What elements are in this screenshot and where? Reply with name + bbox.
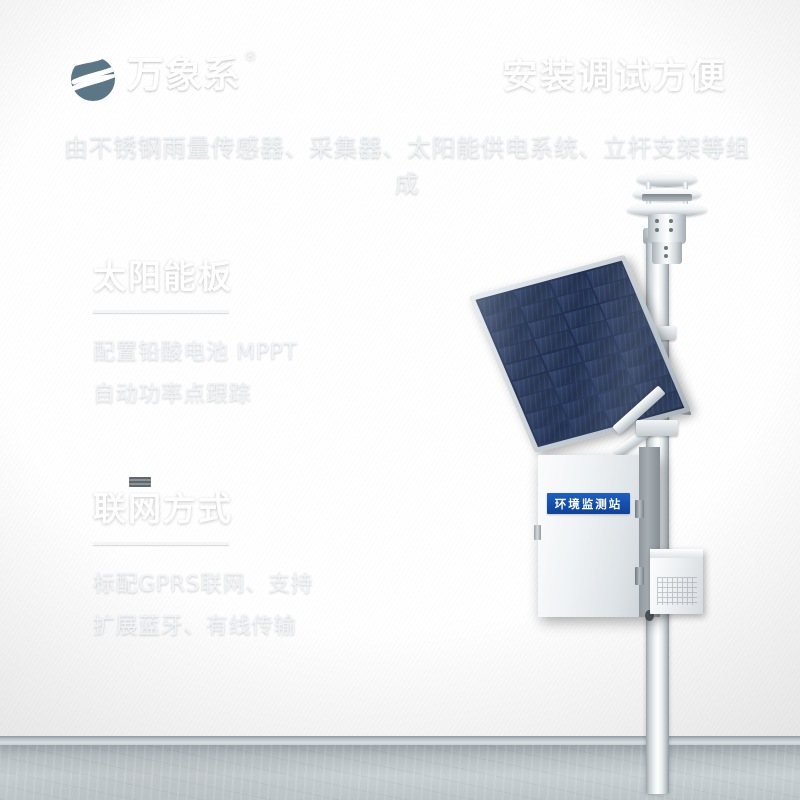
sensor-port: [669, 219, 673, 223]
cabinet-latch: [635, 500, 644, 518]
feature-description: 配置铅酸电池 MPPT 自动功率点跟踪: [93, 332, 423, 416]
feature-block-networking: 联网方式 标配GPRS联网、支持 扩展蓝牙、有线传输: [93, 487, 423, 648]
sensor-neck: [652, 242, 682, 264]
cabinet-vent-slot: [129, 477, 151, 487]
feature-block-solar-panel: 太阳能板 配置铅酸电池 MPPT 自动功率点跟踪: [93, 255, 423, 416]
brand-logo[interactable]: 万象系 ®: [68, 52, 241, 104]
sensor-port: [664, 246, 668, 250]
feature-line: 标配GPRS联网、支持: [93, 564, 423, 606]
cabinet-label: 环境监测站: [547, 493, 630, 514]
feature-line: 自动功率点跟踪: [93, 374, 423, 416]
sensor-port: [655, 228, 659, 232]
floor-texture: [0, 745, 800, 800]
feature-description: 标配GPRS联网、支持 扩展蓝牙、有线传输: [93, 564, 423, 648]
junction-box-icon: [650, 549, 703, 614]
brand-name-text: 万象系: [127, 53, 241, 96]
header-dotted-divider: [62, 114, 742, 117]
sensor-body: [648, 214, 686, 244]
feature-line: 配置铅酸电池 MPPT: [93, 332, 423, 374]
cabinet-hinge: [534, 525, 541, 540]
page-title: 安装调试方便: [480, 53, 750, 101]
equipment-cabinet: 环境监测站: [538, 455, 660, 617]
feature-underline: [93, 310, 229, 313]
feature-line: 扩展蓝牙、有线传输: [93, 606, 423, 648]
feature-title: 联网方式: [93, 487, 423, 531]
registered-trademark-icon: ®: [244, 50, 258, 63]
globe-swoosh-logo-icon: [68, 54, 118, 104]
brand-name: 万象系 ®: [127, 52, 241, 98]
junction-box-lid: [650, 549, 703, 558]
feature-title: 太阳能板: [93, 255, 423, 299]
cabinet-door: 环境监测站: [538, 455, 639, 617]
sensor-port: [669, 228, 673, 232]
sensor-port: [664, 254, 668, 258]
product-feature-banner: 环境监测站 万象系 ®: [0, 0, 800, 800]
feature-underline: [93, 542, 229, 545]
junction-box-vent-grid: [657, 577, 697, 605]
pole-clamp: [636, 420, 678, 436]
page-subtitle: 由不锈钢雨量传感器、采集器、太阳能供电系统、立杆支架等组成: [62, 130, 752, 202]
cabinet-latch: [635, 567, 644, 585]
sensor-port: [655, 219, 659, 223]
